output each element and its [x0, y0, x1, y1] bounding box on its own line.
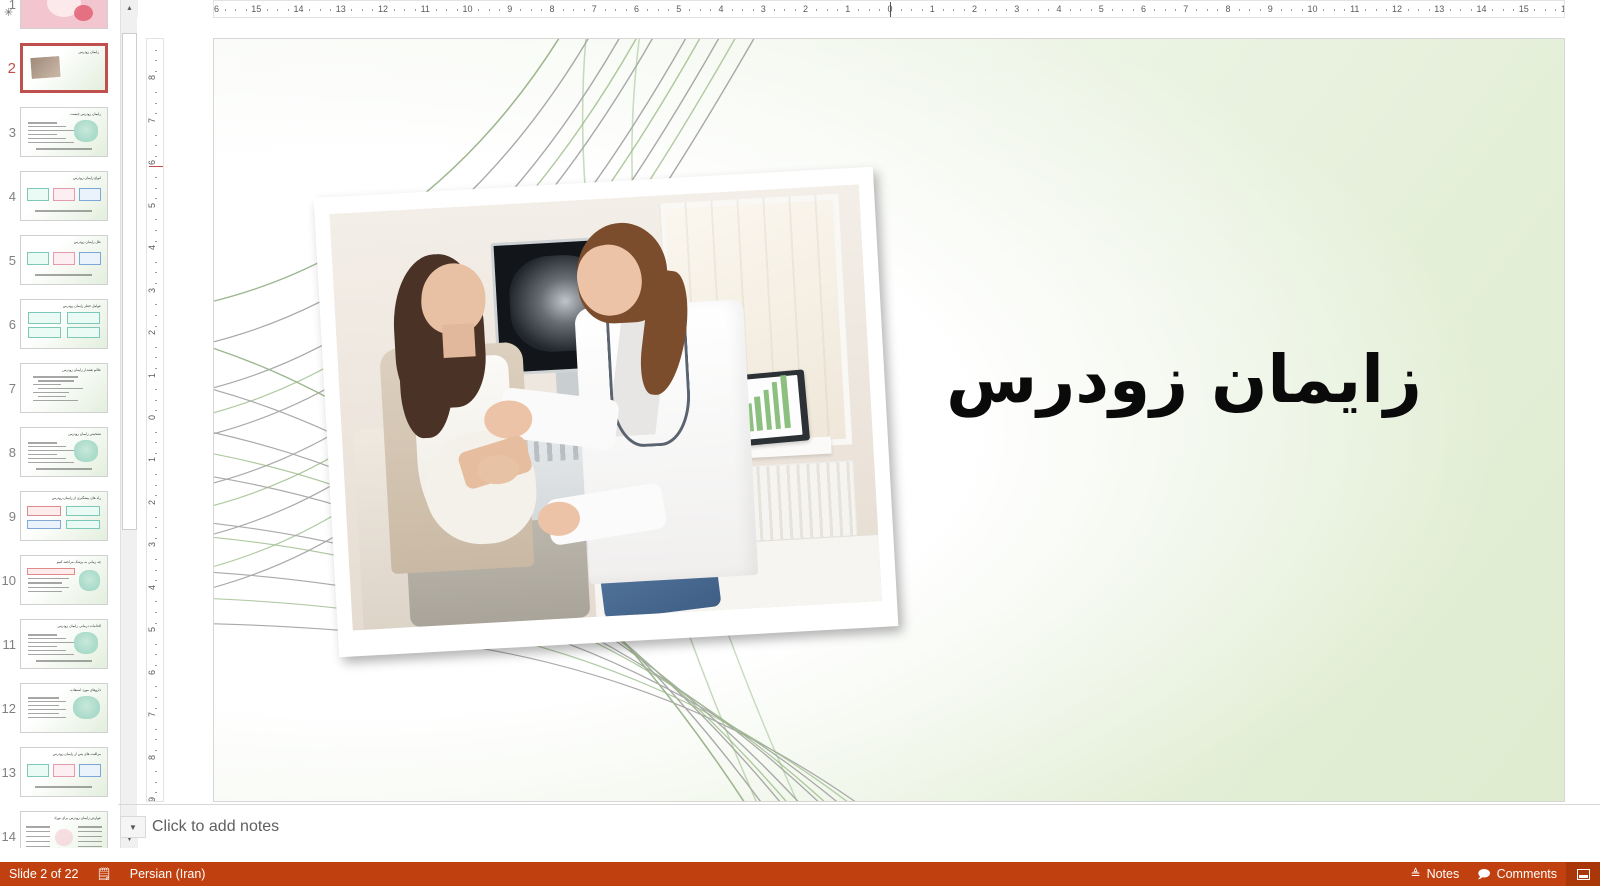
ruler-minor-tick — [647, 9, 648, 11]
slide-thumbnail-item[interactable]: 3زایمان زودرس چیست — [0, 100, 118, 164]
ruler-minor-tick — [626, 9, 627, 11]
ruler-minor-tick — [246, 9, 247, 11]
ruler-minor-tick — [1080, 9, 1081, 11]
ruler-minor-tick — [1091, 9, 1092, 11]
slide-thumbnail-preview-box[interactable]: علائم هشدار زایمان زودرس — [20, 363, 108, 413]
ruler-minor-tick — [922, 9, 923, 11]
ruler-minor-tick — [1070, 9, 1071, 11]
slide-thumbnail-preview-box[interactable]: اقدامات درمانی زایمان زودرس — [20, 619, 108, 669]
slide-thumbnail-item[interactable]: 7علائم هشدار زایمان زودرس — [0, 356, 118, 420]
ruler-minor-tick — [155, 410, 157, 411]
ruler-minor-tick — [155, 559, 157, 560]
ruler-minor-tick — [1112, 9, 1113, 11]
ruler-minor-tick — [689, 9, 690, 11]
ruler-minor-tick — [155, 708, 157, 709]
ruler-minor-tick — [155, 50, 157, 51]
ruler-minor-tick — [879, 9, 880, 11]
slide-thumbnail-item[interactable]: 14عوارض زایمان زودرس برای نوزاد — [0, 804, 118, 848]
ruler-minor-tick — [531, 9, 532, 11]
ruler-minor-tick — [943, 9, 944, 11]
ruler-minor-tick — [584, 9, 585, 11]
slide-indicator[interactable]: Slide 2 of 22 — [0, 862, 88, 886]
ruler-minor-tick — [605, 9, 606, 11]
ruler-minor-tick — [710, 9, 711, 11]
ruler-tick-label: 6 — [634, 4, 639, 14]
ruler-minor-tick — [155, 623, 157, 624]
scroll-up-icon[interactable]: ▲ — [121, 0, 138, 17]
slide-thumbnail-number: 13 — [0, 765, 20, 780]
ruler-tick-label: 1 — [845, 4, 850, 14]
ruler-minor-tick — [155, 453, 157, 454]
ruler-minor-tick — [446, 9, 447, 11]
ruler-minor-tick — [320, 9, 321, 11]
thumbnail-preview: زایمان زودرس — [23, 46, 105, 90]
ruler-tick-label: 7 — [592, 4, 597, 14]
ruler-minor-tick — [155, 241, 157, 242]
ruler-minor-tick — [1492, 9, 1493, 11]
ruler-minor-tick — [732, 9, 733, 11]
ruler-minor-tick — [155, 485, 157, 486]
ruler-minor-tick — [478, 9, 479, 11]
ruler-tick-label: 8 — [1225, 4, 1230, 14]
ruler-minor-tick — [155, 400, 157, 401]
comments-button[interactable]: 🗩 Comments — [1468, 862, 1566, 886]
notes-button-label: Notes — [1427, 867, 1460, 881]
ruler-minor-tick — [277, 9, 278, 11]
ruler-minor-tick — [774, 9, 775, 11]
slide-thumbnail-number: 14 — [0, 829, 20, 844]
ruler-minor-tick — [1534, 9, 1535, 11]
thumbnail-preview: عوارض زایمان زودرس برای نوزاد — [21, 812, 107, 848]
slide-thumbnail-item[interactable]: 11اقدامات درمانی زایمان زودرس — [0, 612, 118, 676]
ruler-minor-tick — [267, 9, 268, 11]
slide-editing-area[interactable]: زایمان زودرس — [213, 38, 1565, 802]
ruler-tick-label: 11 — [421, 4, 430, 14]
ruler-tick-label: 1 — [930, 4, 935, 14]
ruler-tick-label: 3 — [1014, 4, 1019, 14]
ruler-minor-tick — [235, 9, 236, 11]
slide-thumbnail-item[interactable]: 8تشخیص زایمان زودرس — [0, 420, 118, 484]
ruler-minor-tick — [1038, 9, 1039, 11]
ruler-tick-label: 14 — [293, 4, 303, 14]
ruler-minor-tick — [795, 9, 796, 11]
ruler-minor-tick — [1281, 9, 1282, 11]
ruler-minor-tick — [1344, 9, 1345, 11]
thumbnail-preview: چه زمانی به پزشک مراجعه کنیم — [21, 556, 107, 604]
ruler-tick-label: 5 — [676, 4, 681, 14]
ruler-minor-tick — [1291, 9, 1292, 11]
ruler-minor-tick — [155, 188, 157, 189]
ruler-tick-label: 16 — [213, 4, 219, 14]
ruler-tick-label: 7 — [147, 118, 164, 123]
thumbnail-preview: داروهای مورد استفاده — [21, 684, 107, 732]
thumbnail-preview: انواع زایمان زودرس — [21, 172, 107, 220]
language-indicator[interactable]: Persian (Iran) — [121, 862, 215, 886]
ruler-minor-tick — [155, 304, 157, 305]
slide-thumbnail-preview-box[interactable]: علل زایمان زودرس — [20, 235, 108, 285]
ruler-minor-tick — [155, 686, 157, 687]
notes-splitter[interactable] — [118, 804, 1600, 805]
ruler-minor-tick — [394, 9, 395, 11]
slide-thumbnail-number: 7 — [0, 381, 20, 396]
ruler-origin-marker — [890, 2, 891, 18]
slide-thumbnail-number: 8 — [0, 445, 20, 460]
ruler-minor-tick — [155, 432, 157, 433]
thumbnail-scrollbar[interactable]: ▲ ▼ — [120, 0, 137, 848]
thumbnail-preview: راه های پیشگیری از زایمان زودرس — [21, 492, 107, 540]
ruler-minor-tick — [155, 60, 157, 61]
ruler-minor-tick — [837, 9, 838, 11]
slide-thumbnail-number: 4 — [0, 189, 20, 204]
ruler-minor-tick — [1302, 9, 1303, 11]
accessibility-checker-icon[interactable]: 🗒 — [88, 862, 121, 886]
ruler-minor-tick — [827, 9, 828, 11]
ruler-tick-label: 9 — [1268, 4, 1273, 14]
comments-button-label: Comments — [1497, 867, 1557, 881]
slide-thumbnail-number: 9 — [0, 509, 20, 524]
ruler-minor-tick — [816, 9, 817, 11]
ruler-minor-tick — [155, 792, 157, 793]
ruler-minor-tick — [225, 9, 226, 11]
ruler-minor-tick — [155, 527, 157, 528]
ruler-minor-tick — [155, 156, 157, 157]
ruler-minor-tick — [996, 9, 997, 11]
ruler-minor-tick — [155, 113, 157, 114]
ruler-minor-tick — [155, 665, 157, 666]
slide-thumbnail-number: 3 — [0, 125, 20, 140]
ruler-tick-label: 8 — [147, 755, 164, 760]
ruler-tick-label: 16 — [1561, 4, 1565, 14]
ruler-minor-tick — [415, 9, 416, 11]
ruler-minor-tick — [155, 739, 157, 740]
ruler-minor-tick — [155, 219, 157, 220]
ruler-tick-label: 5 — [147, 627, 164, 632]
ruler-tick-label: 4 — [718, 4, 723, 14]
slide-thumbnail-preview-box[interactable] — [20, 0, 108, 29]
slide-thumbnail-preview-box[interactable]: عوارض زایمان زودرس برای نوزاد — [20, 811, 108, 848]
powerpoint-window: ✳ 12زایمان زودرس3زایمان زودرس چیست4انواع… — [0, 0, 1600, 886]
ruler-minor-tick — [1249, 9, 1250, 11]
notes-pane[interactable]: Click to add notes — [146, 810, 1600, 848]
ruler-minor-tick — [1334, 9, 1335, 11]
ruler-minor-tick — [615, 9, 616, 11]
ruler-minor-tick — [1545, 9, 1546, 11]
ruler-minor-tick — [155, 326, 157, 327]
ruler-minor-tick — [901, 9, 902, 11]
ruler-tick-label: 3 — [147, 288, 164, 293]
slide-thumbnail-preview-box[interactable]: مراقبت های پس از زایمان زودرس — [20, 747, 108, 797]
ruler-minor-tick — [1365, 9, 1366, 11]
ruler-minor-tick — [155, 135, 157, 136]
ruler-tick-label: 14 — [1476, 4, 1486, 14]
ruler-tick-label: 2 — [803, 4, 808, 14]
slide-title-text[interactable]: زایمان زودرس — [864, 339, 1504, 422]
slide-thumbnail-item[interactable]: 13مراقبت های پس از زایمان زودرس — [0, 740, 118, 804]
ruler-minor-tick — [155, 538, 157, 539]
ruler-minor-tick — [1122, 9, 1123, 11]
ruler-minor-tick — [1513, 9, 1514, 11]
thumbnail-preview: علل زایمان زودرس — [21, 236, 107, 284]
ruler-minor-tick — [155, 145, 157, 146]
ruler-tick-label: 6 — [147, 160, 164, 165]
ruler-minor-tick — [869, 9, 870, 11]
status-bar: Slide 2 of 22 🗒 Persian (Iran) ≜ Notes 🗩… — [0, 862, 1600, 886]
notes-button[interactable]: ≜ Notes — [1402, 862, 1469, 886]
slide-thumbnail-number: 1 — [0, 0, 20, 12]
slide-thumbnail-number: 2 — [0, 60, 20, 77]
pregnant-woman-with-doctor-photo[interactable] — [330, 185, 882, 631]
ruler-tick-label: 7 — [147, 712, 164, 717]
ruler-minor-tick — [155, 198, 157, 199]
slide-thumbnail-item[interactable]: 5علل زایمان زودرس — [0, 228, 118, 292]
ruler-minor-tick — [155, 442, 157, 443]
ruler-minor-tick — [1408, 9, 1409, 11]
ruler-minor-tick — [499, 9, 500, 11]
ruler-tick-label: 5 — [1099, 4, 1104, 14]
ruler-minor-tick — [404, 9, 405, 11]
normal-view-icon — [1577, 869, 1590, 880]
ruler-minor-tick — [155, 389, 157, 390]
ruler-minor-tick — [372, 9, 373, 11]
ruler-tick-label: 13 — [336, 4, 346, 14]
ruler-minor-tick — [1217, 9, 1218, 11]
slide-thumbnail-number: 11 — [0, 637, 20, 652]
slide-thumbnail-preview-box[interactable]: چه زمانی به پزشک مراجعه کنیم — [20, 555, 108, 605]
ruler-minor-tick — [520, 9, 521, 11]
ruler-minor-tick — [155, 612, 157, 613]
ruler-minor-tick — [1154, 9, 1155, 11]
ruler-minor-tick — [742, 9, 743, 11]
slide-thumbnail-preview-box[interactable]: زایمان زودرس چیست — [20, 107, 108, 157]
ruler-minor-tick — [1555, 9, 1556, 11]
ruler-minor-tick — [1418, 9, 1419, 11]
slide-thumbnail-list[interactable]: 12زایمان زودرس3زایمان زودرس چیست4انواع ز… — [0, 0, 118, 848]
thumbnail-preview: اقدامات درمانی زایمان زودرس — [21, 620, 107, 668]
ruler-tick-label: 4 — [147, 245, 164, 250]
notes-placeholder[interactable]: Click to add notes — [152, 818, 279, 836]
thumbnail-preview — [21, 0, 107, 28]
notes-icon: ≜ — [1411, 868, 1421, 880]
ruler-minor-tick — [1460, 9, 1461, 11]
ruler-minor-tick — [155, 177, 157, 178]
slide-thumbnail-item[interactable]: 10چه زمانی به پزشک مراجعه کنیم — [0, 548, 118, 612]
ruler-minor-tick — [155, 347, 157, 348]
thumbnail-preview: تشخیص زایمان زودرس — [21, 428, 107, 476]
thumbnail-preview: مراقبت های پس از زایمان زودرس — [21, 748, 107, 796]
ruler-minor-tick — [351, 9, 352, 11]
thumbnail-preview: علائم هشدار زایمان زودرس — [21, 364, 107, 412]
slide-thumbnail-pane[interactable]: ✳ 12زایمان زودرس3زایمان زودرس چیست4انواع… — [0, 0, 118, 848]
ruler-minor-tick — [362, 9, 363, 11]
ruler-minor-tick — [155, 272, 157, 273]
slide-thumbnail-preview-box[interactable]: راه های پیشگیری از زایمان زودرس — [20, 491, 108, 541]
ruler-minor-tick — [155, 782, 157, 783]
slide-thumbnail-preview-box[interactable]: زایمان زودرس — [20, 43, 108, 93]
ruler-minor-tick — [700, 9, 701, 11]
thumbnail-preview: زایمان زودرس چیست — [21, 108, 107, 156]
ruler-minor-tick — [155, 103, 157, 104]
slide-thumbnail-item[interactable]: 1 — [0, 0, 118, 36]
ruler-tick-label: 2 — [147, 500, 164, 505]
ruler-minor-tick — [155, 262, 157, 263]
ruler-tick-label: 9 — [507, 4, 512, 14]
ruler-tick-label: 11 — [1350, 4, 1359, 14]
ruler-minor-tick — [985, 9, 986, 11]
ruler-minor-tick — [1386, 9, 1387, 11]
ruler-minor-tick — [1207, 9, 1208, 11]
slide-thumbnail-preview-box[interactable]: داروهای مورد استفاده — [20, 683, 108, 733]
ruler-tick-label: 8 — [549, 4, 554, 14]
slide-thumbnail-item[interactable]: 2زایمان زودرس — [0, 36, 118, 100]
thumbnail-preview: عوامل خطر زایمان زودرس — [21, 300, 107, 348]
ruler-tick-label: 15 — [251, 4, 261, 14]
ruler-minor-tick — [1323, 9, 1324, 11]
ruler-minor-tick — [309, 9, 310, 11]
ruler-minor-tick — [953, 9, 954, 11]
ruler-minor-tick — [1471, 9, 1472, 11]
ruler-minor-tick — [1133, 9, 1134, 11]
ruler-minor-tick — [1429, 9, 1430, 11]
ruler-minor-tick — [668, 9, 669, 11]
ruler-minor-tick — [155, 474, 157, 475]
ruler-minor-tick — [1165, 9, 1166, 11]
ruler-minor-tick — [784, 9, 785, 11]
horizontal-ruler: 1615141312111098765432101234567891011121… — [213, 0, 1565, 18]
chevron-down-icon[interactable]: ▼ — [120, 816, 146, 838]
ruler-tick-label: 2 — [972, 4, 977, 14]
ruler-minor-tick — [155, 495, 157, 496]
ruler-minor-tick — [155, 644, 157, 645]
ruler-tick-label: 3 — [147, 542, 164, 547]
ruler-tick-label: 15 — [1519, 4, 1529, 14]
slide-thumbnail-item[interactable]: 4انواع زایمان زودرس — [0, 164, 118, 228]
normal-view-button[interactable] — [1566, 862, 1600, 886]
ruler-tick-label: 0 — [147, 415, 164, 420]
ruler-tick-label: 6 — [147, 670, 164, 675]
ruler-minor-tick — [155, 92, 157, 93]
ruler-minor-tick — [1376, 9, 1377, 11]
slide-thumbnail-number: 12 — [0, 701, 20, 716]
ruler-minor-tick — [155, 315, 157, 316]
ruler-minor-tick — [155, 697, 157, 698]
comment-icon: 🗩 — [1477, 868, 1490, 880]
ruler-minor-tick — [155, 580, 157, 581]
ruler-minor-tick — [1503, 9, 1504, 11]
ruler-minor-tick — [155, 654, 157, 655]
ruler-minor-tick — [753, 9, 754, 11]
ruler-minor-tick — [155, 71, 157, 72]
slide-thumbnail-item[interactable]: 12داروهای مورد استفاده — [0, 676, 118, 740]
ruler-minor-tick — [155, 230, 157, 231]
ruler-tick-label: 7 — [1183, 4, 1188, 14]
slide-thumbnail-item[interactable]: 6عوامل خطر زایمان زودرس — [0, 292, 118, 356]
ruler-minor-tick — [457, 9, 458, 11]
ruler-minor-tick — [563, 9, 564, 11]
ruler-minor-tick — [858, 9, 859, 11]
ruler-minor-tick — [541, 9, 542, 11]
ruler-tick-label: 6 — [1141, 4, 1146, 14]
slide-thumbnail-preview-box[interactable]: انواع زایمان زودرس — [20, 171, 108, 221]
ruler-minor-tick — [1027, 9, 1028, 11]
ruler-minor-tick — [658, 9, 659, 11]
ruler-minor-tick — [1196, 9, 1197, 11]
ruler-tick-label: 8 — [147, 75, 164, 80]
ruler-minor-tick — [155, 601, 157, 602]
ruler-tick-label: 5 — [147, 203, 164, 208]
ruler-minor-tick — [330, 9, 331, 11]
ruler-minor-tick — [155, 517, 157, 518]
ruler-tick-label: 3 — [761, 4, 766, 14]
ruler-minor-tick — [1260, 9, 1261, 11]
ruler-origin-marker — [149, 166, 163, 167]
ruler-minor-tick — [1450, 9, 1451, 11]
ruler-tick-label: 10 — [1307, 4, 1317, 14]
ruler-tick-label: 9 — [147, 797, 164, 802]
ruler-minor-tick — [1006, 9, 1007, 11]
ruler-minor-tick — [155, 357, 157, 358]
ruler-minor-tick — [489, 9, 490, 11]
slide-thumbnail-preview-box[interactable]: تشخیص زایمان زودرس — [20, 427, 108, 477]
ruler-minor-tick — [288, 9, 289, 11]
ruler-minor-tick — [155, 283, 157, 284]
slide-thumbnail-number: 10 — [0, 573, 20, 588]
ruler-tick-label: 1 — [147, 457, 164, 462]
ruler-minor-tick — [155, 570, 157, 571]
ruler-tick-label: 12 — [1392, 4, 1402, 14]
ruler-minor-tick — [1239, 9, 1240, 11]
slide-thumbnail-number: 5 — [0, 253, 20, 268]
ruler-minor-tick — [964, 9, 965, 11]
ruler-tick-label: 10 — [462, 4, 472, 14]
ruler-minor-tick — [1175, 9, 1176, 11]
ruler-minor-tick — [436, 9, 437, 11]
slide-photo-frame[interactable] — [314, 167, 899, 658]
ruler-tick-label: 1 — [147, 373, 164, 378]
ruler-tick-label: 13 — [1434, 4, 1444, 14]
slide-thumbnail-preview-box[interactable]: عوامل خطر زایمان زودرس — [20, 299, 108, 349]
ruler-minor-tick — [155, 368, 157, 369]
slide-thumbnail-number: 6 — [0, 317, 20, 332]
ruler-minor-tick — [573, 9, 574, 11]
ruler-minor-tick — [1048, 9, 1049, 11]
slide-canvas[interactable]: زایمان زودرس — [213, 38, 1565, 802]
ruler-minor-tick — [911, 9, 912, 11]
ruler-minor-tick — [155, 771, 157, 772]
vertical-ruler: 9876543210123456789 — [146, 38, 164, 802]
ruler-tick-label: 4 — [147, 585, 164, 590]
ruler-minor-tick — [155, 750, 157, 751]
ruler-minor-tick — [155, 729, 157, 730]
slide-thumbnail-item[interactable]: 9راه های پیشگیری از زایمان زودرس — [0, 484, 118, 548]
scrollbar-thumb[interactable] — [122, 33, 137, 530]
ruler-tick-label: 12 — [378, 4, 388, 14]
ruler-tick-label: 2 — [147, 330, 164, 335]
ruler-tick-label: 4 — [1056, 4, 1061, 14]
